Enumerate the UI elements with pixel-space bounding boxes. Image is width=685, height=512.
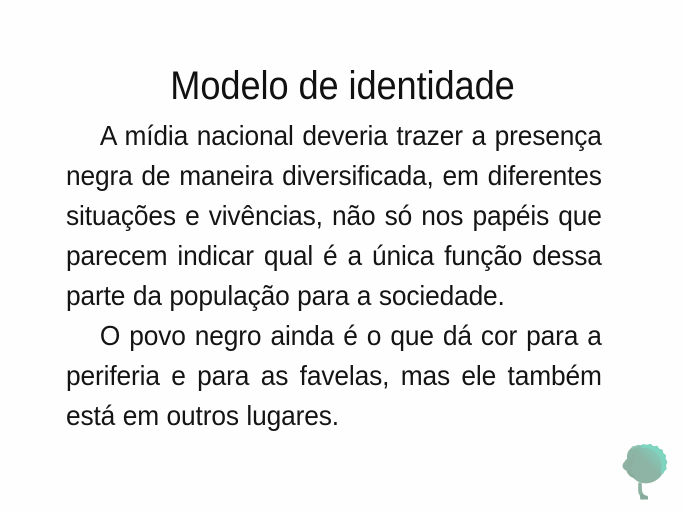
slide-title: Modelo de identidade: [33, 63, 653, 109]
presentation-slide: Modelo de identidade A mídia nacional de…: [0, 0, 685, 512]
body-paragraph: O povo negro ainda é o que dá cor para a…: [66, 316, 602, 436]
afro-head-silhouette-icon: [612, 441, 674, 503]
body-paragraph: A mídia nacional deveria trazer a presen…: [66, 116, 602, 316]
slide-body: A mídia nacional deveria trazer a presen…: [66, 116, 636, 436]
